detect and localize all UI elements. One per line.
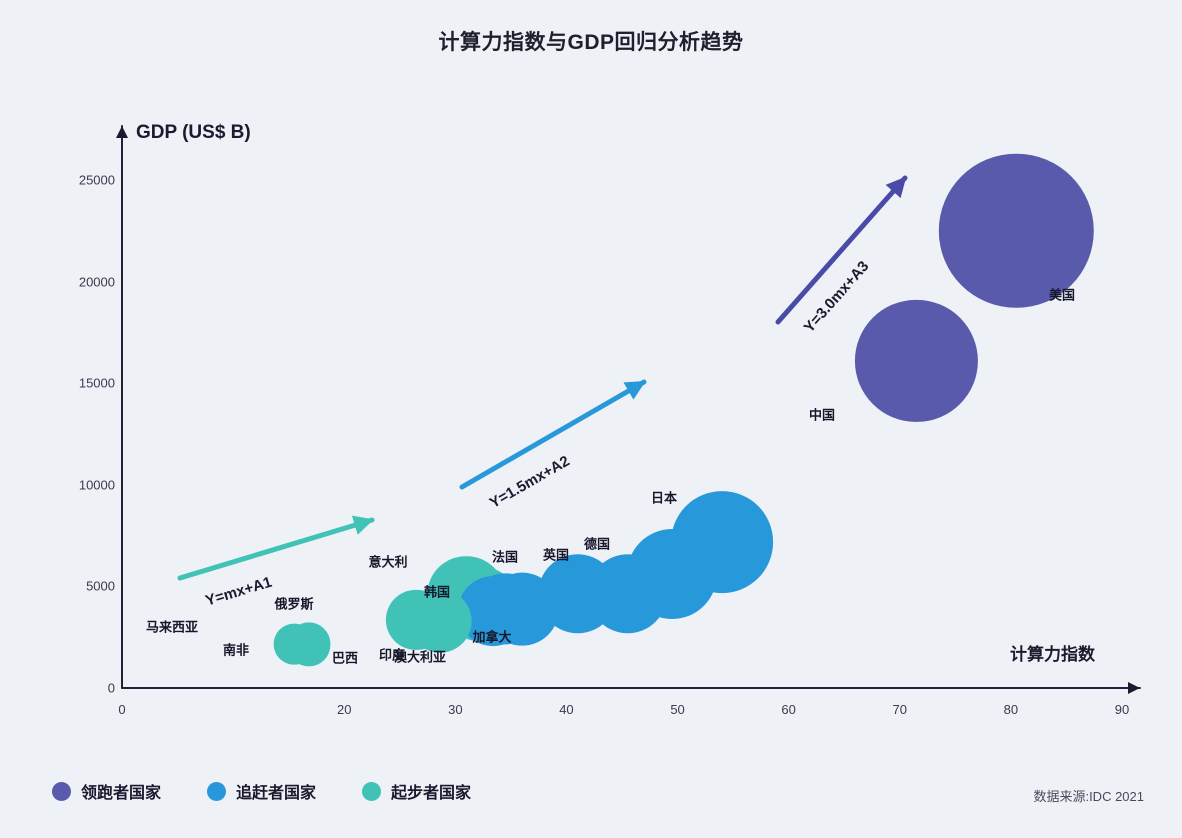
x-axis-ticks: 02030405060708090 <box>0 702 1182 726</box>
chart-legend: 领跑者国家追赶者国家起步者国家 <box>52 779 471 803</box>
y-axis-title: GDP (US$ B) <box>136 122 251 144</box>
bubble-中国[interactable] <box>855 300 977 422</box>
x-tick-label: 50 <box>670 702 684 717</box>
bubble-label-马来西亚: 马来西亚 <box>146 617 198 636</box>
x-axis-title: 计算力指数 <box>1010 640 1095 665</box>
trend-label: Y=3.0mx+A3 <box>801 258 873 336</box>
x-tick-label: 40 <box>559 702 573 717</box>
bubble-label-韩国: 韩国 <box>424 582 450 601</box>
trend-label: Y=mx+A1 <box>203 574 273 610</box>
x-tick-label: 30 <box>448 702 462 717</box>
x-tick-label: 20 <box>337 702 351 717</box>
bubble-label-德国: 德国 <box>584 534 610 553</box>
legend-item-1[interactable]: 追赶者国家 <box>207 779 316 803</box>
bubble-label-俄罗斯: 俄罗斯 <box>274 594 313 613</box>
bubble-label-英国: 英国 <box>543 545 569 564</box>
legend-label: 起步者国家 <box>391 779 471 803</box>
y-tick-label: 0 <box>108 681 115 696</box>
legend-swatch-icon <box>207 782 226 801</box>
y-tick-label: 5000 <box>86 579 115 594</box>
chart-title: 计算力指数与GDP回归分析趋势 <box>0 26 1182 56</box>
x-tick-label: 0 <box>118 702 125 717</box>
bubble-label-南非: 南非 <box>223 640 249 659</box>
legend-swatch-icon <box>362 782 381 801</box>
y-tick-label: 10000 <box>79 477 115 492</box>
bubble-label-澳大利亚: 澳大利亚 <box>394 647 446 666</box>
bubble-label-意大利: 意大利 <box>368 552 407 571</box>
x-tick-label: 60 <box>781 702 795 717</box>
x-tick-label: 70 <box>893 702 907 717</box>
legend-swatch-icon <box>52 782 71 801</box>
y-tick-label: 20000 <box>79 274 115 289</box>
bubble-label-加拿大: 加拿大 <box>472 627 511 646</box>
legend-label: 追赶者国家 <box>236 779 316 803</box>
trend-arrow <box>180 520 372 578</box>
bubble-label-法国: 法国 <box>492 547 518 566</box>
legend-label: 领跑者国家 <box>81 779 161 803</box>
bubble-label-中国: 中国 <box>809 405 835 424</box>
source-note: 数据来源:IDC 2021 <box>1033 786 1144 805</box>
x-tick-label: 90 <box>1115 702 1129 717</box>
y-tick-label: 15000 <box>79 376 115 391</box>
bubble-label-巴西: 巴西 <box>332 648 358 667</box>
bubble-label-日本: 日本 <box>651 488 677 507</box>
bubble-label-美国: 美国 <box>1049 285 1075 304</box>
x-tick-label: 80 <box>1004 702 1018 717</box>
trend-label: Y=1.5mx+A2 <box>487 452 573 511</box>
y-tick-label: 25000 <box>79 173 115 188</box>
chart-root: 计算力指数与GDP回归分析趋势 GDP (US$ B) 计算力指数 050001… <box>0 0 1182 838</box>
legend-item-2[interactable]: 起步者国家 <box>362 779 471 803</box>
legend-item-0[interactable]: 领跑者国家 <box>52 779 161 803</box>
bubble-马来西亚[interactable] <box>274 624 315 665</box>
